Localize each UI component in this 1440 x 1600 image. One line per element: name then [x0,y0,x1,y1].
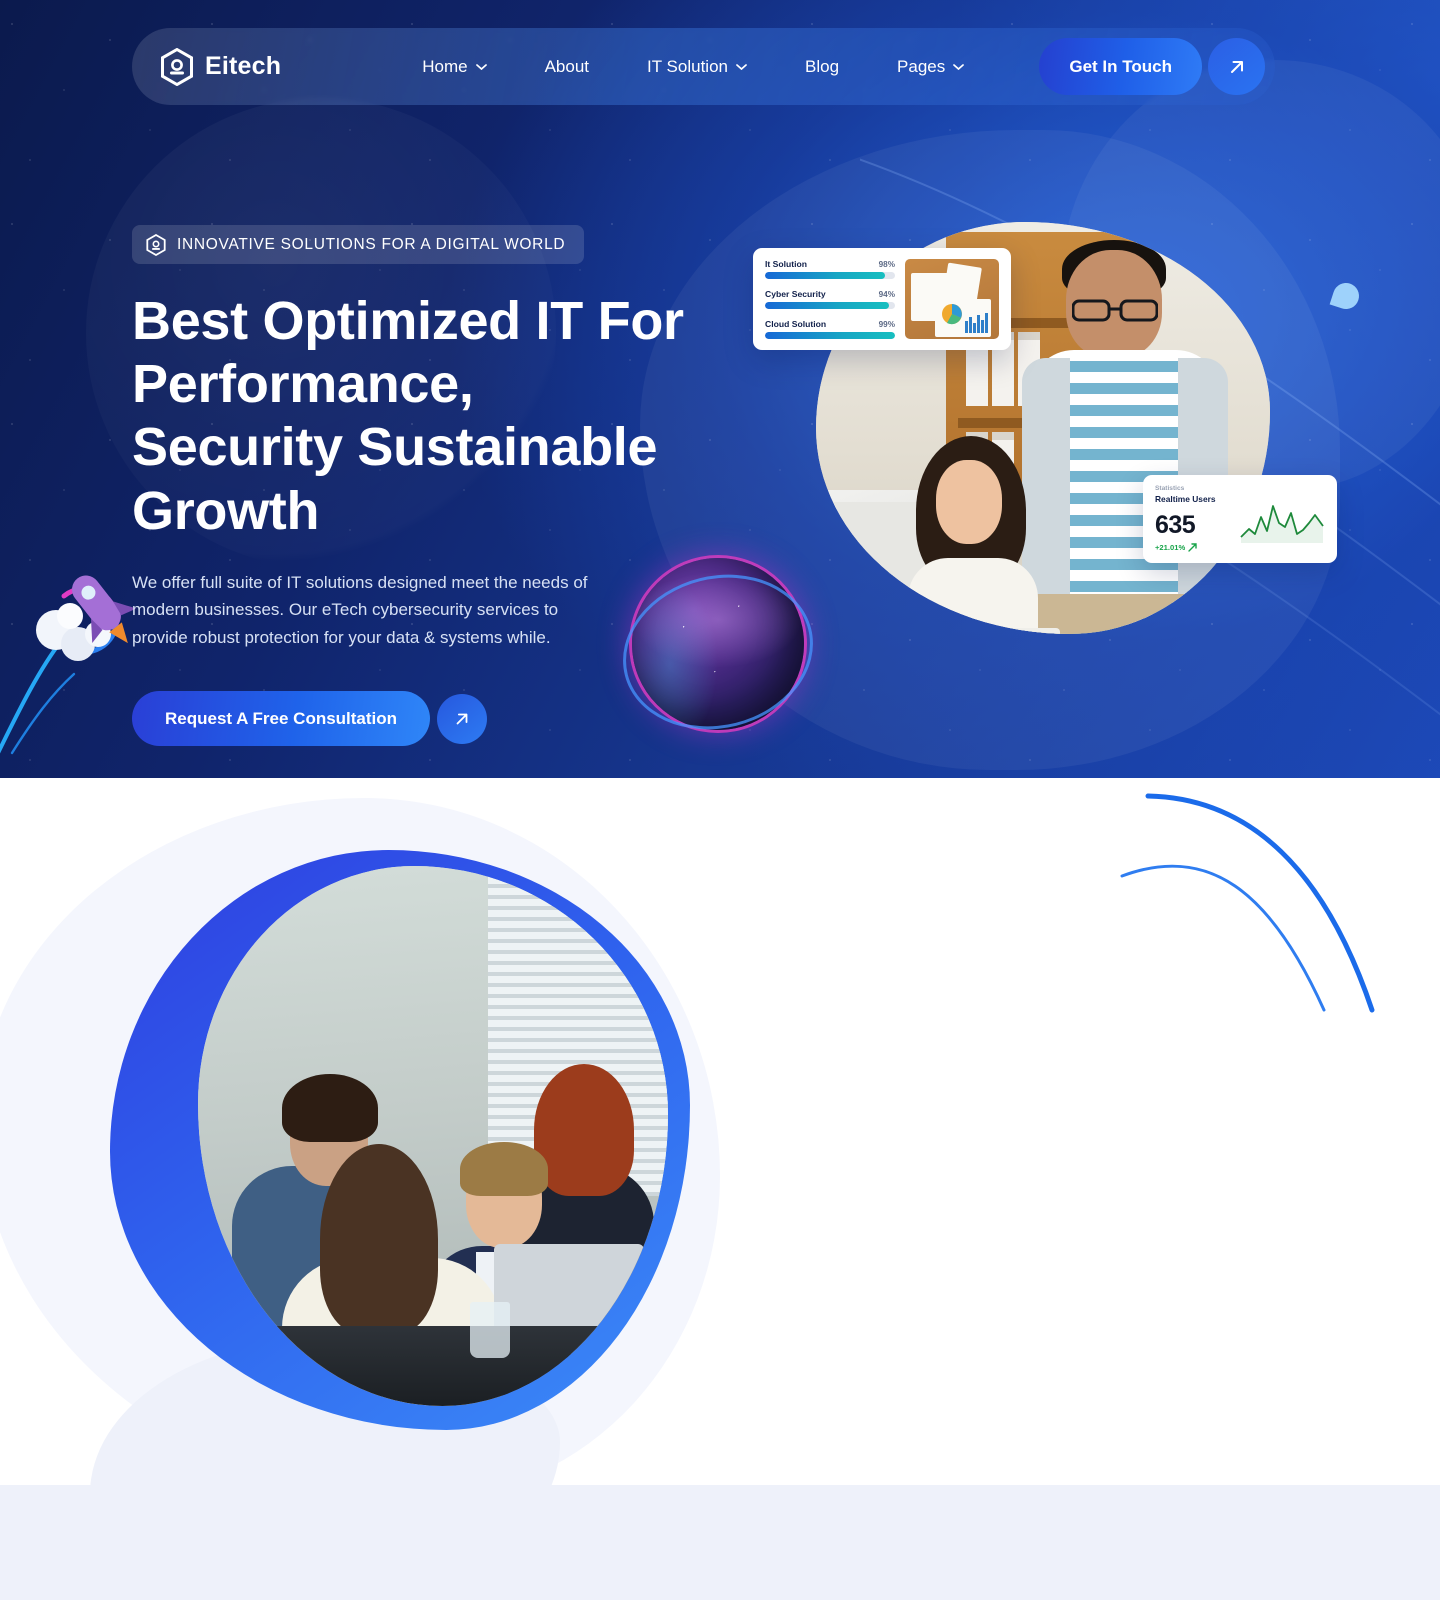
skill-label: Cloud Solution [765,319,826,329]
chevron-down-icon [476,64,487,70]
hero-badge-label: INNOVATIVE SOLUTIONS FOR A DIGITAL WORLD [177,236,565,254]
hero-badge: INNOVATIVE SOLUTIONS FOR A DIGITAL WORLD [132,225,584,264]
skill-label: It Solution [765,259,807,269]
landing-page: Eitech Home About IT Solution Blog [0,0,1440,1600]
nav-item-label: IT Solution [647,57,728,77]
stats-kicker: Statistics [1155,485,1216,492]
chevron-down-icon [953,64,964,70]
skill-progress-track [765,302,895,309]
hero-cta-group: Request A Free Consultation [132,691,712,746]
stats-delta: +21.01% [1155,543,1216,552]
nav-item-pages[interactable]: Pages [868,57,993,77]
hero-title: Best Optimized IT For Performance, Secur… [132,290,692,543]
nav-item-blog[interactable]: Blog [776,57,868,77]
stats-delta-text: +21.01% [1155,543,1185,552]
nav-item-about[interactable]: About [516,57,618,77]
skill-percent: 94% [879,290,895,299]
nav-item-label: Home [422,57,467,77]
brand-logo[interactable]: Eitech [160,48,281,86]
decorative-curves [1110,778,1440,1018]
about-team-photo [198,866,668,1406]
skill-item: It Solution 98% [765,259,895,279]
stats-label: Realtime Users [1155,494,1216,504]
nav-item-it-solution[interactable]: IT Solution [618,57,776,77]
moon-shape-decoration [1330,280,1363,313]
hero-section: Eitech Home About IT Solution Blog [0,0,1440,778]
hero-content: INNOVATIVE SOLUTIONS FOR A DIGITAL WORLD… [132,225,712,746]
skill-list: It Solution 98% Cyber Security 94% Cloud… [765,259,895,339]
skill-progress-track [765,272,895,279]
skill-progress-track [765,332,895,339]
hero-skills-card: It Solution 98% Cyber Security 94% Cloud… [753,248,1011,350]
get-in-touch-button[interactable]: Get In Touch [1039,38,1202,95]
skill-percent: 98% [879,260,895,269]
about-section: ABOUT ETECH IT SOLUTION Dedicated To Del… [0,778,1440,1485]
chevron-down-icon [736,64,747,70]
nav-item-label: About [545,57,589,77]
page-bottom-band [0,1485,1440,1600]
arrow-up-right-icon [1227,57,1247,77]
hero-request-consultation-button[interactable]: Request A Free Consultation [132,691,430,746]
hero-description: We offer full suite of IT solutions desi… [132,569,602,652]
skill-label: Cyber Security [765,289,826,299]
nav-item-label: Pages [897,57,945,77]
nav-item-home[interactable]: Home [393,57,515,77]
skill-card-thumbnail [905,259,999,339]
brand-name: Eitech [205,52,281,81]
skill-item: Cloud Solution 99% [765,319,895,339]
trend-up-icon [1188,543,1197,552]
hero-stats-card: Statistics Realtime Users 635 +21.01% [1143,475,1337,563]
arrow-up-right-icon [453,710,471,728]
skill-percent: 99% [879,320,895,329]
hero-request-consultation-arrow-button[interactable] [437,694,487,744]
get-in-touch-arrow-button[interactable] [1208,38,1265,95]
stats-value: 635 [1155,513,1216,538]
stats-text-group: Statistics Realtime Users 635 +21.01% [1155,485,1216,553]
skill-item: Cyber Security 94% [765,289,895,309]
sparkline-chart [1239,493,1325,545]
hexagon-logo-icon [160,48,194,86]
main-navbar: Eitech Home About IT Solution Blog [132,28,1275,105]
nav-item-label: Blog [805,57,839,77]
navbar-cta-group: Get In Touch [1039,38,1265,95]
hexagon-logo-icon [146,234,166,256]
nav-links: Home About IT Solution Blog Pages [393,57,993,77]
